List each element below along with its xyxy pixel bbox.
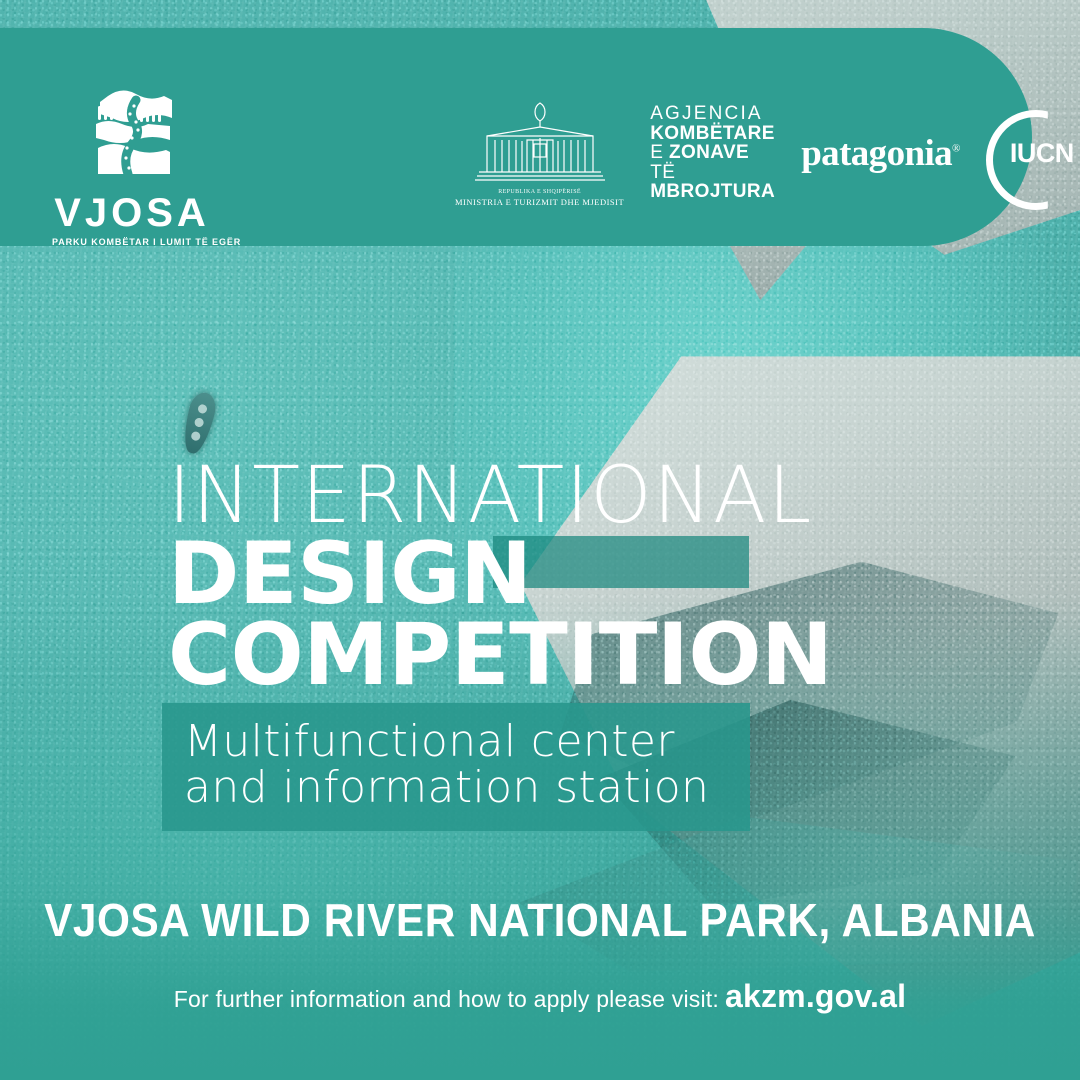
subtitle-line-1: Multifunctional center bbox=[184, 719, 728, 765]
akzm-logo[interactable]: AGJENCIA KOMBËTARE E ZONAVE TË MBROJTURA bbox=[650, 104, 775, 202]
patagonia-wordmark: patagonia bbox=[801, 133, 952, 174]
patagonia-logo[interactable]: patagonia® bbox=[801, 132, 960, 175]
location-banner: VJOSA WILD RIVER NATIONAL PARK, ALBANIA bbox=[43, 893, 1037, 947]
subtitle-block: Multifunctional center and information s… bbox=[162, 703, 750, 831]
header-bar: VJOSA PARKU KOMBËTAR I LUMIT TË EGËR bbox=[0, 28, 1032, 246]
akzm-line-3-main: ZONAVE bbox=[669, 142, 749, 163]
trademark-symbol: ® bbox=[952, 142, 960, 154]
headline-line-3: COMPETITION bbox=[168, 615, 998, 696]
akzm-line-4-main: MBROJTURA bbox=[650, 181, 775, 202]
partner-logos: REPUBLIKA E SHQIPËRISË MINISTRIA E TURIZ… bbox=[455, 88, 1072, 218]
akzm-line-3: E ZONAVE bbox=[650, 143, 775, 163]
headline-line-2: DESIGN bbox=[168, 534, 998, 615]
ministry-name: MINISTRIA E TURIZMIT DHE MJEDISIT bbox=[455, 197, 624, 207]
akzm-line-4: TË MBROJTURA bbox=[650, 163, 775, 202]
headline-line-1: INTERNATIONAL bbox=[168, 463, 998, 530]
iucn-logo[interactable]: IUCN bbox=[986, 110, 1072, 196]
akzm-line-1: AGJENCIA bbox=[650, 104, 775, 124]
vjosa-logo[interactable]: VJOSA PARKU KOMBËTAR I LUMIT TË EGËR bbox=[52, 78, 212, 247]
headline-line-2-wrap: DESIGN bbox=[168, 534, 998, 615]
footer: For further information and how to apply… bbox=[0, 978, 1080, 1015]
subtitle-line-2: and information station bbox=[184, 765, 728, 811]
footer-lead-text: For further information and how to apply… bbox=[174, 986, 719, 1012]
ministry-logo[interactable]: REPUBLIKA E SHQIPËRISË MINISTRIA E TURIZ… bbox=[455, 100, 624, 207]
vjosa-tagline: PARKU KOMBËTAR I LUMIT TË EGËR bbox=[52, 237, 212, 247]
mountain-river-icon bbox=[78, 78, 186, 186]
akzm-line-2: KOMBËTARE bbox=[650, 124, 775, 144]
vjosa-wordmark: VJOSA bbox=[52, 193, 212, 233]
footer-url[interactable]: akzm.gov.al bbox=[725, 978, 906, 1014]
ministry-country-line: REPUBLIKA E SHQIPËRISË bbox=[498, 189, 581, 195]
poster: VJOSA PARKU KOMBËTAR I LUMIT TË EGËR bbox=[0, 0, 1080, 1080]
government-building-icon bbox=[465, 100, 615, 186]
akzm-line-4-prefix: TË bbox=[650, 162, 675, 183]
akzm-line-3-prefix: E bbox=[650, 142, 663, 163]
headline-group: INTERNATIONAL DESIGN COMPETITION bbox=[168, 463, 998, 696]
